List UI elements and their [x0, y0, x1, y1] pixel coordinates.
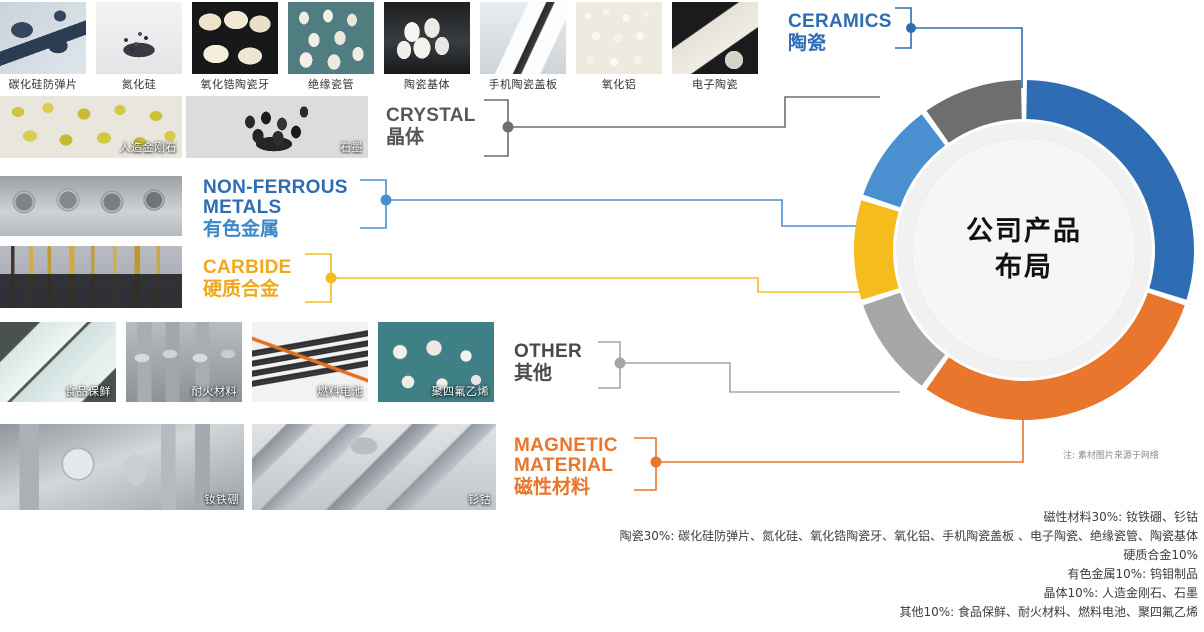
- category-cn-label: 其他: [514, 362, 582, 385]
- category-label-magnetic[interactable]: MAGNETIC MATERIAL 磁性材料: [514, 436, 618, 499]
- category-en-label: CERAMICS: [788, 12, 892, 32]
- category-cn-label: 磁性材料: [514, 476, 618, 499]
- category-en-label: CRYSTAL: [386, 106, 476, 126]
- source-note: 注: 素材图片来源于网络: [1063, 448, 1159, 461]
- category-en-label: NON-FERROUS: [203, 178, 348, 198]
- category-en-label-2: MATERIAL: [514, 456, 618, 476]
- connector-nonferrous: [360, 180, 862, 228]
- connector-crystal: [484, 97, 880, 156]
- legend-line: 陶瓷30%: 碳化硅防弹片、氮化硅、氧化锆陶瓷牙、氧化铝、手机陶瓷盖板 、电子陶…: [598, 527, 1198, 546]
- legend-line: 晶体10%: 人造金刚石、石墨: [598, 584, 1198, 603]
- donut-inner-ring: [912, 138, 1136, 362]
- legend-block: 磁性材料30%: 钕铁硼、钐钴 陶瓷30%: 碳化硅防弹片、氮化硅、氧化锆陶瓷牙…: [598, 508, 1198, 622]
- category-cn-label: 有色金属: [203, 218, 348, 241]
- connector-carbide: [305, 254, 864, 302]
- connector-dot: [906, 23, 916, 33]
- category-en-label-2: METALS: [203, 198, 348, 218]
- connector-dot: [651, 457, 662, 468]
- category-label-crystal[interactable]: CRYSTAL 晶体: [386, 106, 476, 149]
- connector-dot: [615, 358, 626, 369]
- category-en-label: OTHER: [514, 342, 582, 362]
- category-en-label: MAGNETIC: [514, 436, 618, 456]
- connector-dot: [503, 122, 514, 133]
- category-label-carbide[interactable]: CARBIDE 硬质合金: [203, 258, 292, 301]
- connector-dot: [381, 195, 392, 206]
- donut-segment-硬质合金: [854, 200, 899, 299]
- category-en-label: CARBIDE: [203, 258, 292, 278]
- category-label-ceramics[interactable]: CERAMICS 陶瓷: [788, 12, 892, 55]
- connector-dot: [326, 273, 337, 284]
- legend-line: 硬质合金10%: [598, 546, 1198, 565]
- legend-line: 有色金属10%: 钨钼制品: [598, 565, 1198, 584]
- category-label-nonferrous[interactable]: NON-FERROUS METALS 有色金属: [203, 178, 348, 241]
- category-label-other[interactable]: OTHER 其他: [514, 342, 582, 385]
- product-donut-chart: [846, 72, 1202, 428]
- category-cn-label: 硬质合金: [203, 278, 292, 301]
- category-cn-label: 晶体: [386, 126, 476, 149]
- legend-line: 磁性材料30%: 钕铁硼、钐钴: [598, 508, 1198, 527]
- legend-line: 其他10%: 食品保鲜、耐火材料、燃料电池、聚四氟乙烯: [598, 603, 1198, 622]
- category-cn-label: 陶瓷: [788, 32, 892, 55]
